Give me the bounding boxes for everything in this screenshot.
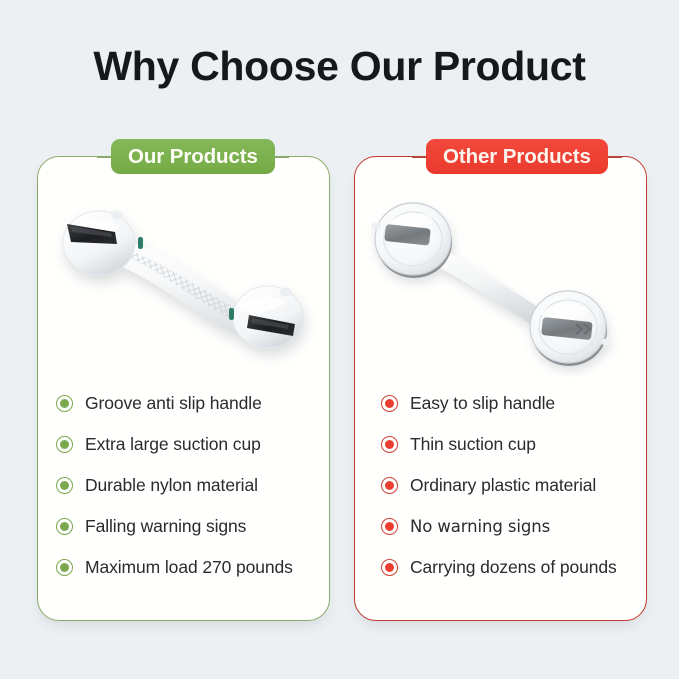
bullet-check-icon — [56, 518, 73, 535]
feature-item: Ordinary plastic material — [381, 465, 651, 506]
feature-item: Extra large suction cup — [56, 424, 326, 465]
feature-label: Extra large suction cup — [85, 434, 261, 455]
feature-item: Groove anti slip handle — [56, 383, 326, 424]
badge-other-products: Other Products — [412, 139, 622, 174]
feature-item: No warning signs — [381, 506, 651, 547]
page-title: Why Choose Our Product — [0, 43, 679, 90]
ribbon-tab-left-icon — [412, 156, 426, 158]
bullet-cross-icon — [381, 395, 398, 412]
feature-item: Thin suction cup — [381, 424, 651, 465]
bullet-cross-icon — [381, 477, 398, 494]
ribbon-tab-right-icon — [608, 156, 622, 158]
bullet-check-icon — [56, 477, 73, 494]
feature-item: Carrying dozens of pounds — [381, 547, 651, 588]
feature-item: Falling warning signs — [56, 506, 326, 547]
feature-label: Durable nylon material — [85, 475, 258, 496]
feature-item: Easy to slip handle — [381, 383, 651, 424]
bullet-cross-icon — [381, 436, 398, 453]
feature-label: Maximum load 270 pounds — [85, 557, 293, 578]
feature-label: Easy to slip handle — [410, 393, 555, 414]
badge-our-products: Our Products — [97, 139, 289, 174]
bullet-check-icon — [56, 395, 73, 412]
feature-label: No warning signs — [410, 517, 550, 536]
badge-our-products-label: Our Products — [111, 139, 275, 174]
feature-label: Groove anti slip handle — [85, 393, 262, 414]
feature-label: Falling warning signs — [85, 516, 246, 537]
feature-list-other-products: Easy to slip handle Thin suction cup Ord… — [381, 383, 651, 588]
bullet-cross-icon — [381, 559, 398, 576]
ribbon-tab-right-icon — [275, 156, 289, 158]
feature-label: Thin suction cup — [410, 434, 536, 455]
badge-other-products-label: Other Products — [426, 139, 608, 174]
feature-list-our-products: Groove anti slip handle Extra large suct… — [56, 383, 326, 588]
feature-item: Maximum load 270 pounds — [56, 547, 326, 588]
feature-label: Ordinary plastic material — [410, 475, 596, 496]
bullet-cross-icon — [381, 518, 398, 535]
bullet-check-icon — [56, 436, 73, 453]
ribbon-tab-left-icon — [97, 156, 111, 158]
feature-label: Carrying dozens of pounds — [410, 557, 617, 578]
bullet-check-icon — [56, 559, 73, 576]
feature-item: Durable nylon material — [56, 465, 326, 506]
